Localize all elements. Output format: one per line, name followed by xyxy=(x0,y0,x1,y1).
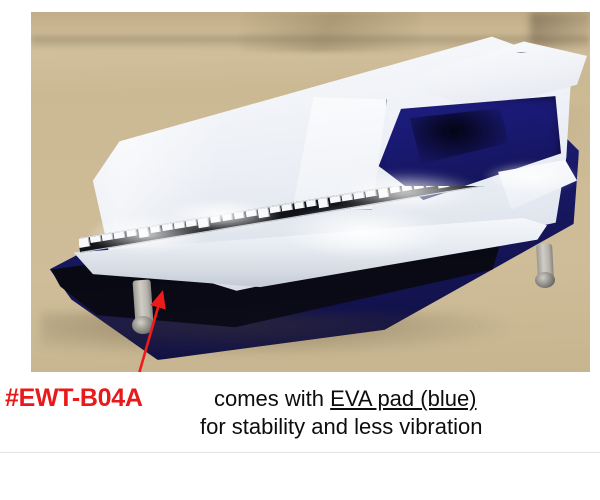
table-highlight-center xyxy=(331,172,481,212)
background-dark-corner xyxy=(530,12,590,48)
caption-area: #EWT-B04A comes with EVA pad (blue) for … xyxy=(0,372,600,500)
eva-pad-cast-shadow xyxy=(41,312,521,358)
description-underlined-term: EVA pad (blue) xyxy=(330,386,476,411)
support-leg-left-foot xyxy=(132,316,154,334)
caption-divider xyxy=(0,452,600,453)
description-prefix: comes with xyxy=(214,386,330,411)
description-line-2: for stability and less vibration xyxy=(200,414,482,440)
product-callout-slide: #EWT-B04A comes with EVA pad (blue) for … xyxy=(0,0,600,500)
background-crease xyxy=(241,12,421,52)
table-highlight-right xyxy=(483,162,579,192)
support-leg-right-foot xyxy=(535,272,555,288)
description-line-1: comes with EVA pad (blue) xyxy=(214,386,477,412)
table-highlight-left xyxy=(161,198,281,232)
product-sku: #EWT-B04A xyxy=(5,384,143,413)
product-photo xyxy=(31,12,590,372)
